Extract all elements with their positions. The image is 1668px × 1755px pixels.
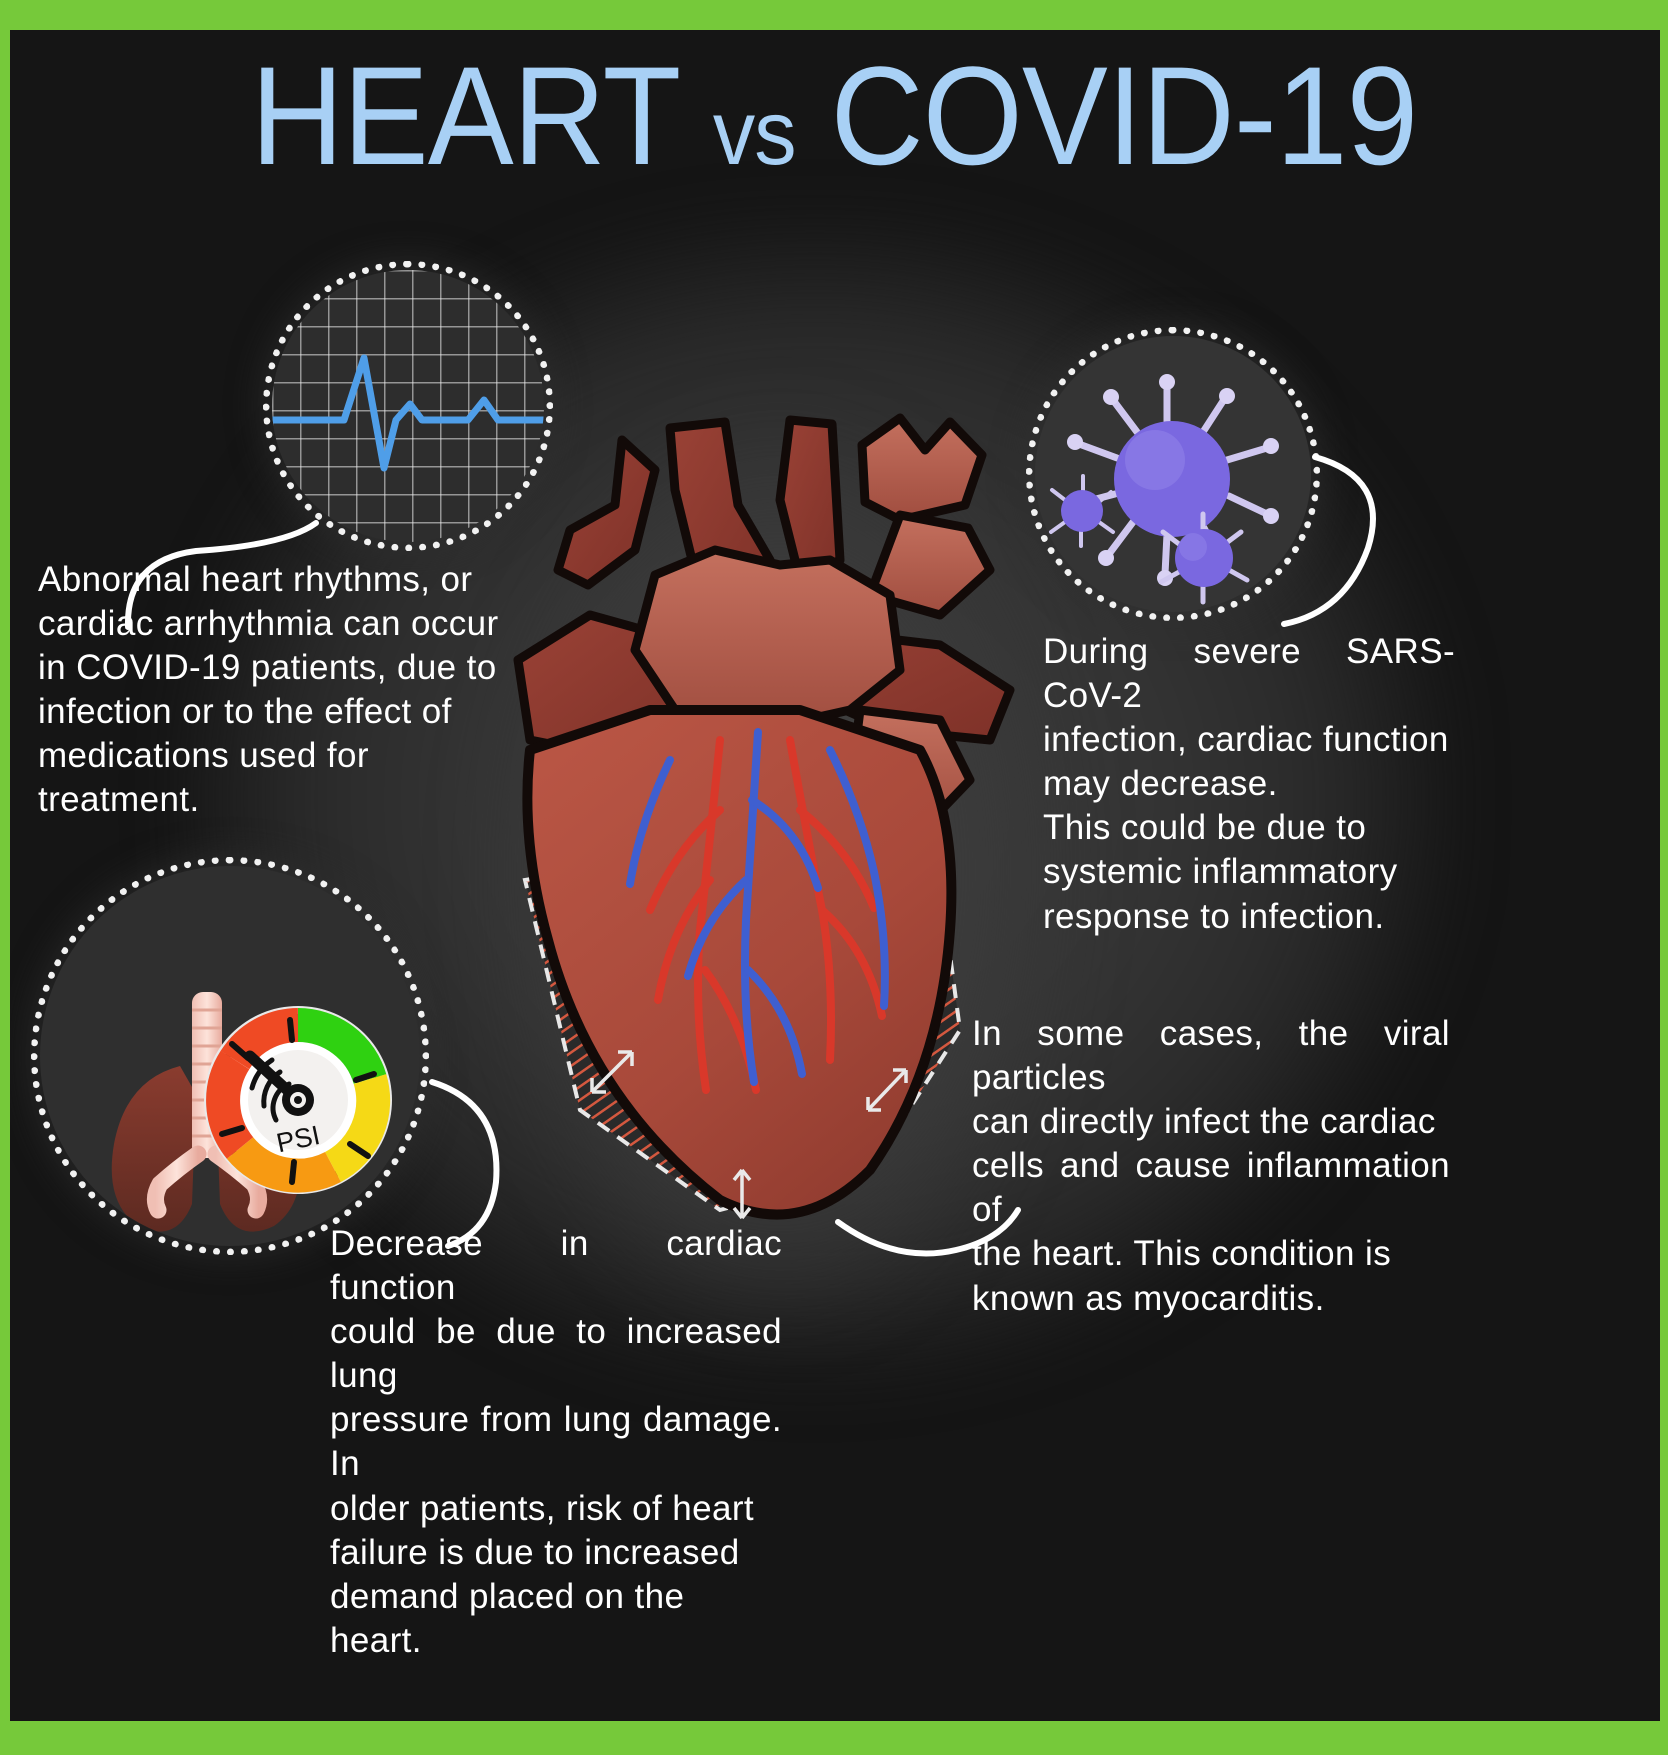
- bottom-green-border: [0, 1721, 1668, 1755]
- left-green-border: [0, 0, 10, 1755]
- infographic-canvas: HEART vs COVID-19: [0, 0, 1668, 1755]
- heart-svg: [470, 410, 1050, 1250]
- paragraph-arrhythmia: Abnormal heart rhythms, or cardiac arrhy…: [38, 558, 500, 823]
- sars-line-6: response to infection.: [1043, 895, 1455, 939]
- sars-line-4: This could be due to: [1043, 806, 1455, 850]
- lung-line-6: demand placed on the heart.: [330, 1575, 782, 1663]
- myocarditis-line-3: cells and cause inflammation of: [972, 1144, 1450, 1232]
- myocarditis-line-4: the heart. This condition is: [972, 1232, 1450, 1276]
- sars-line-3: may decrease.: [1043, 762, 1455, 806]
- ecg-dotted-border: [263, 261, 553, 551]
- lung-line-1: Decrease in cardiac function: [330, 1222, 782, 1310]
- heart-atria: [635, 550, 900, 730]
- title-part-covid: COVID-19: [831, 37, 1418, 194]
- arrhythmia-line-3: in COVID-19 patients, due to: [38, 646, 500, 690]
- title-part-heart: HEART: [251, 37, 678, 194]
- myocarditis-line-1: In some cases, the viral particles: [972, 1012, 1450, 1100]
- virus-dotted-border: [1026, 327, 1320, 621]
- lung-line-4: older patients, risk of heart: [330, 1487, 782, 1531]
- arrhythmia-line-1: Abnormal heart rhythms, or: [38, 558, 500, 602]
- sars-line-5: systemic inflammatory: [1043, 850, 1455, 894]
- right-green-border: [1660, 0, 1668, 1755]
- myocarditis-line-5: known as myocarditis.: [972, 1277, 1450, 1321]
- sars-line-1: During severe SARS-CoV-2: [1043, 630, 1455, 718]
- lung-line-2: could be due to increased lung: [330, 1310, 782, 1398]
- page-title: HEART vs COVID-19: [67, 46, 1602, 186]
- myocarditis-line-2: can directly infect the cardiac: [972, 1100, 1450, 1144]
- paragraph-sars-cov-2: During severe SARS-CoV-2 infection, card…: [1043, 630, 1455, 939]
- heart-illustration: [470, 410, 1050, 1250]
- top-green-border: [0, 0, 1668, 30]
- arrhythmia-line-5: medications used for treatment.: [38, 734, 500, 822]
- paragraph-myocarditis: In some cases, the viral particles can d…: [972, 1012, 1450, 1321]
- virus-illustration-circle: [1035, 336, 1311, 612]
- title-vs: vs: [713, 82, 796, 184]
- lung-line-5: failure is due to increased: [330, 1531, 782, 1575]
- lungs-dotted-border: [31, 857, 429, 1255]
- lungs-gauge-illustration-circle: PSI: [40, 866, 420, 1246]
- sars-line-2: infection, cardiac function: [1043, 718, 1455, 762]
- arrhythmia-line-4: infection or to the effect of: [38, 690, 500, 734]
- arrhythmia-line-2: cardiac arrhythmia can occur: [38, 602, 500, 646]
- ecg-illustration-circle: [272, 270, 544, 542]
- lung-line-3: pressure from lung damage. In: [330, 1398, 782, 1486]
- paragraph-lung-pressure: Decrease in cardiac function could be du…: [330, 1222, 782, 1663]
